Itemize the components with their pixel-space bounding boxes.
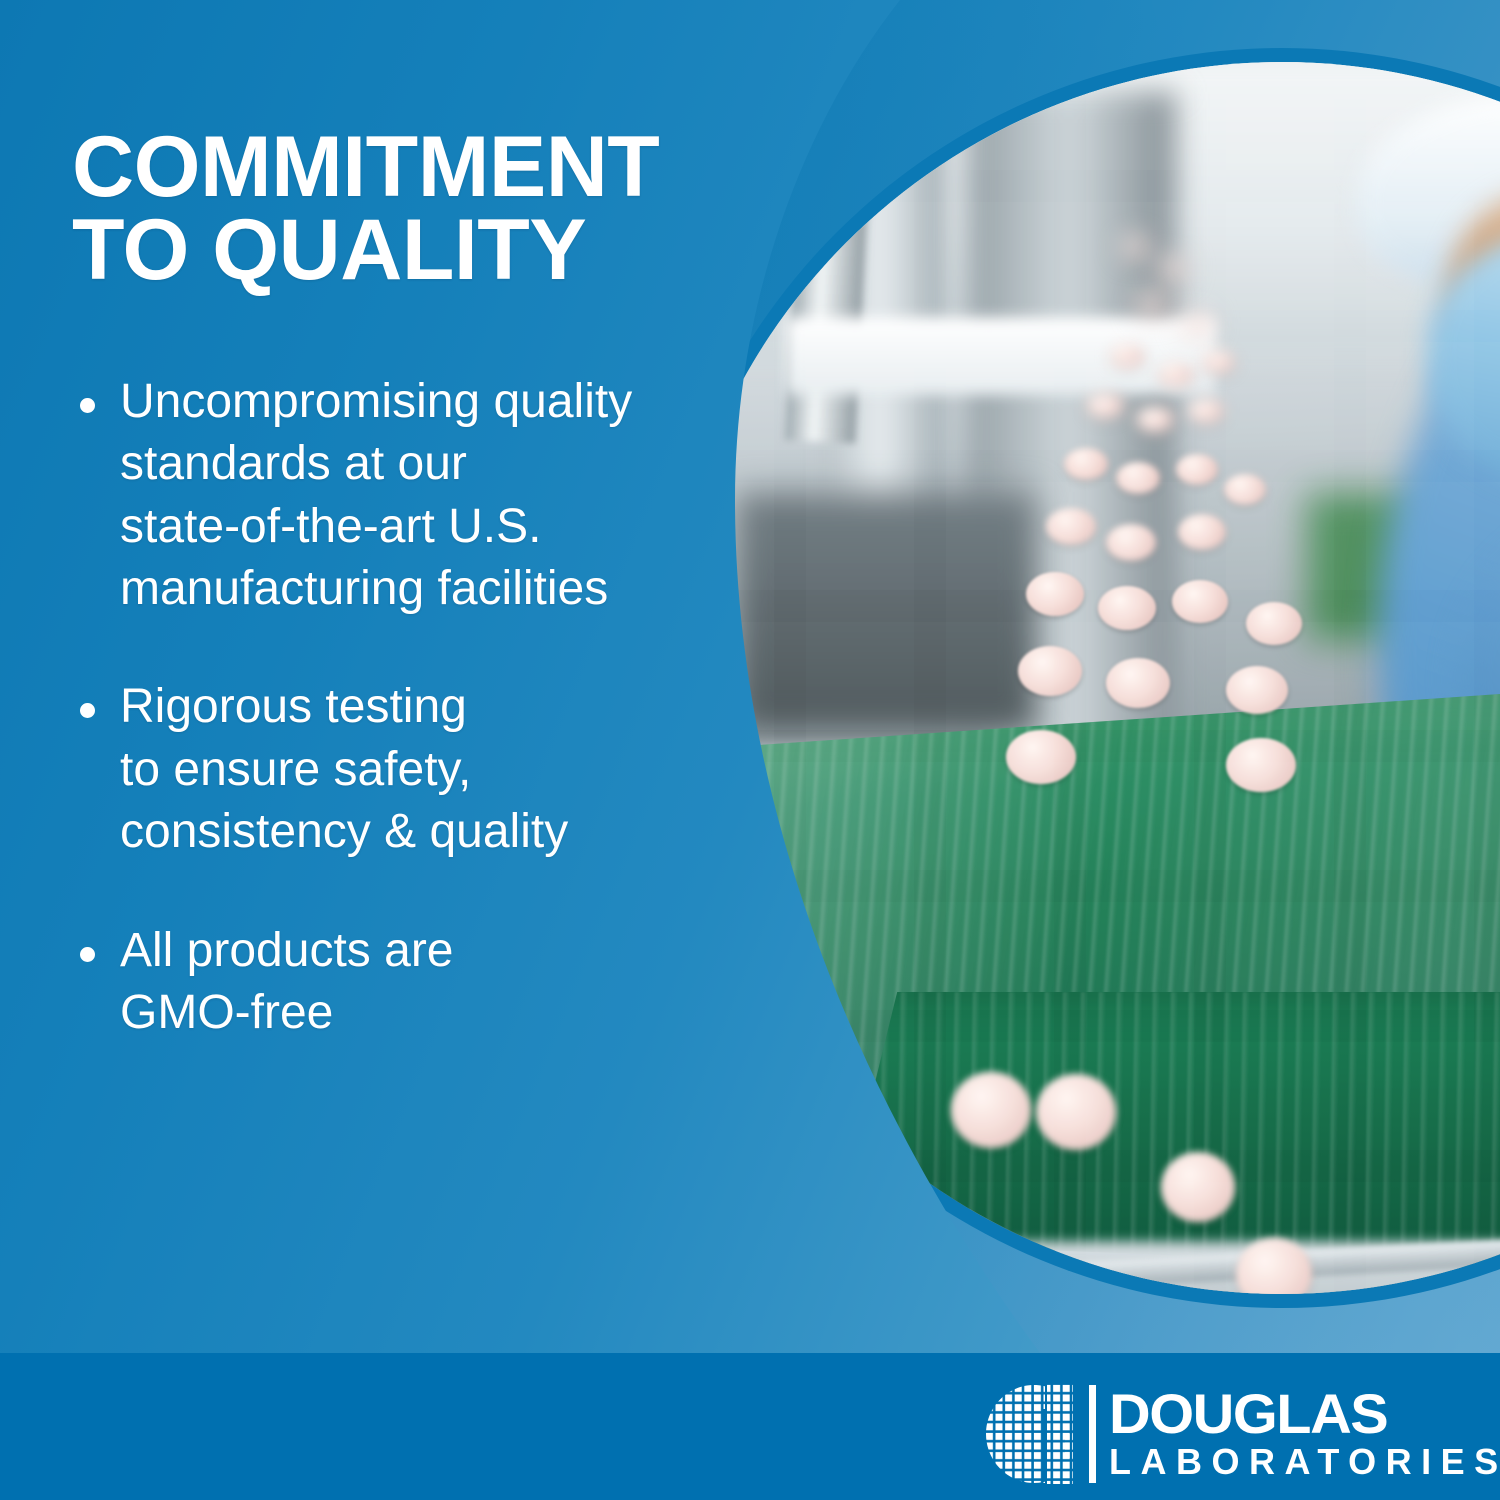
list-item: Uncompromising quality standards at our … [72,371,772,621]
marketing-graphic: COMMITMENT TO QUALITY Uncompromising qua… [0,0,1500,1500]
page-title: COMMITMENT TO QUALITY [72,126,772,293]
bullet-line: standards at our [120,433,772,495]
headline-line-2: TO QUALITY [72,209,772,292]
bullet-dot-icon [80,703,95,718]
logo-subtitle-row: LABORATORIES ® [1109,1444,1500,1480]
headline-line-1: COMMITMENT [72,119,659,215]
content-column: COMMITMENT TO QUALITY Uncompromising qua… [72,0,772,1044]
list-item: All products are GMO-free [72,920,772,1045]
douglas-halftone-circle-icon [985,1384,1083,1484]
bullet-line: All products are [120,920,772,982]
bullet-line: GMO-free [120,982,772,1044]
list-item: Rigorous testing to ensure safety, consi… [72,676,772,863]
bullet-line: state-of-the-art U.S. [120,496,772,558]
bullet-dot-icon [80,947,95,962]
bullet-line: manufacturing facilities [120,558,772,620]
benefits-list: Uncompromising quality standards at our … [72,371,772,1045]
logo-subtitle: LABORATORIES [1109,1444,1500,1480]
bullet-line: to ensure safety, [120,739,772,801]
logo-divider [1089,1385,1096,1483]
logo-brand-name: DOUGLAS [1109,1388,1500,1440]
bullet-line: consistency & quality [120,801,772,863]
brand-logo: DOUGLAS LABORATORIES ® [985,1384,1500,1484]
bullet-line: Rigorous testing [120,676,772,738]
bullet-line: Uncompromising quality [120,371,772,433]
bullet-dot-icon [80,398,95,413]
logo-wordmark: DOUGLAS LABORATORIES ® [1109,1388,1500,1481]
